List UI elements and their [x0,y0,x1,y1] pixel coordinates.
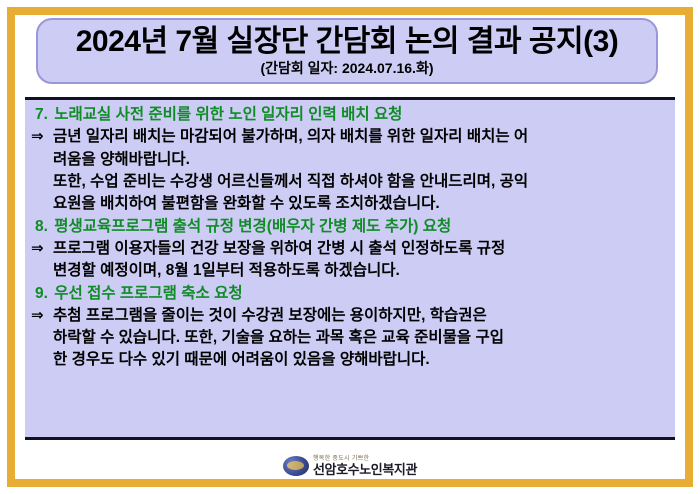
paragraph-line: 추첨 프로그램을 줄이는 것이 수강권 보장에는 용이하지만, 학습권은 [53,305,669,327]
organization-logo: 행복한 중도시 기쁘한 선암호수노인복지관 [283,456,417,476]
agenda-item-number: 7. [35,106,48,123]
agenda-item-paragraph: ⇒프로그램 이용자들의 건강 보장을 위하여 간병 시 출석 인정하도록 규정변… [31,238,669,283]
agenda-item-paragraph: ⇒금년 일자리 배치는 마감되어 불가하며, 의자 배치를 위한 일자리 배치는… [31,126,669,171]
logo-text-block: 행복한 중도시 기쁘한 선암호수노인복지관 [313,456,417,476]
agenda-item-heading-text: 우선 접수 프로그램 축소 요청 [50,285,243,302]
paragraph-line: 변경할 예정이며, 8월 1일부터 적용하도록 하겠습니다. [53,260,669,282]
agenda-item-list: 7. 노래교실 사전 준비를 위한 노인 일자리 인력 배치 요청⇒금년 일자리… [31,104,669,372]
agenda-item: 7. 노래교실 사전 준비를 위한 노인 일자리 인력 배치 요청⇒금년 일자리… [31,104,669,216]
title-banner: 2024년 7월 실장단 간담회 논의 결과 공지(3) (간담회 일자: 20… [36,18,658,84]
double-arrow-icon: ⇒ [31,238,53,260]
agenda-item-paragraph-text: 또한, 수업 준비는 수강생 어르신들께서 직접 하셔야 함을 안내드리며, 공… [53,171,669,216]
footer-logo-area: 행복한 중도시 기쁘한 선암호수노인복지관 [0,446,700,486]
agenda-item-heading: 7. 노래교실 사전 준비를 위한 노인 일자리 인력 배치 요청 [31,104,669,126]
paragraph-line: 금년 일자리 배치는 마감되어 불가하며, 의자 배치를 위한 일자리 배치는 … [53,126,669,148]
agenda-item-paragraph: 또한, 수업 준비는 수강생 어르신들께서 직접 하셔야 함을 안내드리며, 공… [31,171,669,216]
page-title: 2024년 7월 실장단 간담회 논의 결과 공지(3) [76,26,619,58]
paragraph-line: 요원을 배치하여 불편함을 완화할 수 있도록 조치하겠습니다. [53,193,669,215]
agenda-item: 9. 우선 접수 프로그램 축소 요청⇒추첨 프로그램을 줄이는 것이 수강권 … [31,283,669,372]
slide-root: 2024년 7월 실장단 간담회 논의 결과 공지(3) (간담회 일자: 20… [0,0,700,494]
paragraph-line: 프로그램 이용자들의 건강 보장을 위하여 간병 시 출석 인정하도록 규정 [53,238,669,260]
paragraph-line: 한 경우도 다수 있기 때문에 어려움이 있음을 양해바랍니다. [53,349,669,371]
agenda-item-paragraph-text: 금년 일자리 배치는 마감되어 불가하며, 의자 배치를 위한 일자리 배치는 … [53,126,669,171]
agenda-item-heading-text: 노래교실 사전 준비를 위한 노인 일자리 인력 배치 요청 [50,106,402,123]
agenda-item: 8. 평생교육프로그램 출석 규정 변경(배우자 간병 제도 추가) 요청⇒프로… [31,216,669,283]
agenda-item-heading: 9. 우선 접수 프로그램 축소 요청 [31,283,669,305]
logo-emblem-icon [283,456,309,476]
agenda-item-paragraph-text: 프로그램 이용자들의 건강 보장을 위하여 간병 시 출석 인정하도록 규정변경… [53,238,669,283]
paragraph-line: 또한, 수업 준비는 수강생 어르신들께서 직접 하셔야 함을 안내드리며, 공… [53,171,669,193]
paragraph-line: 려움을 양해바랍니다. [53,149,669,171]
content-panel: 7. 노래교실 사전 준비를 위한 노인 일자리 인력 배치 요청⇒금년 일자리… [25,97,675,440]
agenda-item-heading: 8. 평생교육프로그램 출석 규정 변경(배우자 간병 제도 추가) 요청 [31,216,669,238]
agenda-item-paragraph: ⇒추첨 프로그램을 줄이는 것이 수강권 보장에는 용이하지만, 학습권은하락할… [31,305,669,372]
page-subtitle: (간담회 일자: 2024.07.16.화) [260,61,433,76]
agenda-item-number: 9. [35,285,48,302]
agenda-item-paragraph-text: 추첨 프로그램을 줄이는 것이 수강권 보장에는 용이하지만, 학습권은하락할 … [53,305,669,372]
double-arrow-icon: ⇒ [31,305,53,327]
agenda-item-heading-text: 평생교육프로그램 출석 규정 변경(배우자 간병 제도 추가) 요청 [50,218,451,235]
logo-organization-name: 선암호수노인복지관 [313,463,417,476]
agenda-item-number: 8. [35,218,48,235]
paragraph-line: 하락할 수 있습니다. 또한, 기술을 요하는 과목 혹은 교육 준비물을 구입 [53,327,669,349]
double-arrow-icon: ⇒ [31,126,53,148]
